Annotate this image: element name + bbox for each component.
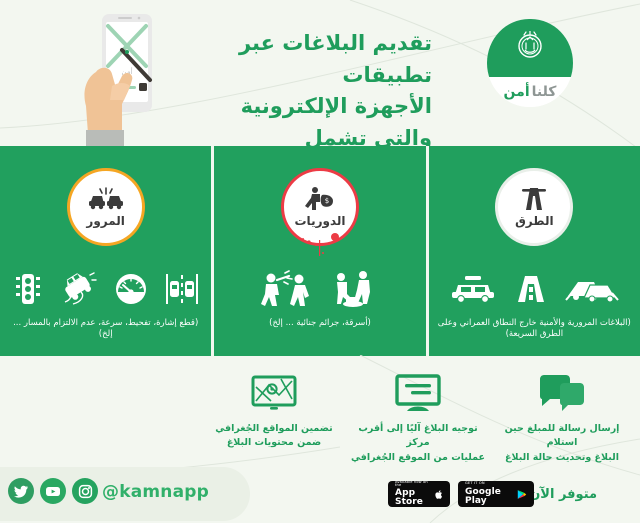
purse-snatching-icon	[259, 270, 313, 308]
panel-roads[interactable]: الطرق	[429, 146, 640, 356]
page-title: تقديم البلاغات عبر تطبيقات الأجهزة الإلك…	[192, 28, 432, 154]
twitter-icon[interactable]	[8, 478, 34, 504]
speedometer-icon	[113, 272, 149, 306]
logo-wordmark: كلناأمن	[487, 77, 573, 107]
instagram-icon[interactable]	[72, 478, 98, 504]
logo-word-green: أمن	[504, 84, 530, 100]
icon-row-traffic	[0, 266, 211, 312]
map-location-icon	[204, 370, 344, 416]
app-store-text: Available now on the App Store	[395, 481, 431, 508]
header: أمن تقديم البلاغات عبر تطبيقات الأجهزة ا…	[0, 0, 640, 146]
icon-row-patrols	[214, 266, 425, 312]
feature-sms-status[interactable]: إرسال رسالة للمبلغ حين استلام البلاغ وتح…	[492, 370, 632, 465]
google-play-text: GET IT ON Google Play	[465, 482, 513, 505]
title-line-2: الأجهزة الإلكترونية والتي تشمل	[192, 91, 432, 154]
footer: @kamnapp متوفر الآن في Available now on …	[0, 465, 640, 523]
panel-caption-traffic: (قطع إشارة، تفحيط، سرعة، عدم الالتزام با…	[6, 318, 205, 340]
police-car-icon	[448, 274, 498, 304]
apple-icon	[435, 488, 443, 501]
app-store-badge[interactable]: Available now on the App Store	[388, 481, 450, 507]
category-panels: الطرق	[0, 146, 640, 356]
feature-caption-line-1: تضمين المواقع الجُغرافي	[204, 422, 344, 436]
feature-caption: إرسال رسالة للمبلغ حين استلام البلاغ وتح…	[492, 422, 632, 465]
social-handle[interactable]: @kamnapp	[102, 482, 209, 502]
saudi-moi-emblem-icon	[516, 31, 544, 61]
google-play-badge[interactable]: GET IT ON Google Play	[458, 481, 534, 507]
app-store-large-text: App Store	[395, 489, 431, 507]
feature-caption-line-1: توجيه البلاغ آليًا إلى أقرب مركز	[348, 422, 488, 451]
app-store-small-text: Available now on the	[395, 481, 431, 488]
badge-label-traffic: المرور	[86, 214, 125, 228]
monitor-screen-icon	[348, 370, 488, 416]
highway-icon	[516, 186, 552, 212]
kollona-amn-logo[interactable]: كلناأمن	[487, 19, 573, 107]
title-line-1: تقديم البلاغات عبر تطبيقات	[192, 28, 432, 91]
drifting-car-icon	[59, 272, 97, 306]
highway-bridge-icon	[514, 274, 548, 304]
youtube-icon[interactable]	[40, 478, 66, 504]
google-play-large-text: Google Play	[465, 488, 513, 506]
icon-row-roads	[429, 266, 640, 312]
feature-auto-routing[interactable]: توجيه البلاغ آليًا إلى أقرب مركز عمليات …	[348, 370, 488, 465]
logo-word-gray: كلنا	[532, 84, 557, 100]
two-cars-collision-icon	[564, 274, 620, 304]
feature-caption-line-1: إرسال رسالة للمبلغ حين استلام	[492, 422, 632, 451]
badge-label-roads: الطرق	[515, 214, 554, 228]
badge-label-patrols: الدوريات	[295, 214, 346, 228]
chat-bubbles-icon	[492, 370, 632, 416]
lane-discipline-icon	[165, 272, 199, 306]
hand-holding-phone-illustration: أمن	[60, 8, 168, 146]
car-crash-icon	[88, 186, 124, 212]
svg-text:$: $	[325, 197, 329, 205]
google-play-icon	[517, 488, 527, 501]
assault-robbery-icon	[329, 270, 381, 308]
thief-with-bag-icon: $	[302, 186, 338, 212]
traffic-light-icon	[13, 272, 43, 306]
feature-caption-line-2: عمليات من الموقع الجُغرافي	[348, 451, 488, 465]
panel-patrols[interactable]: $ الدوريات	[214, 146, 428, 356]
feature-caption-line-2: ضمن محتويات البلاغ	[204, 436, 344, 450]
infographic-root: أمن تقديم البلاغات عبر تطبيقات الأجهزة ا…	[0, 0, 640, 523]
feature-caption: تضمين المواقع الجُغرافي ضمن محتويات البل…	[204, 422, 344, 451]
panel-caption-roads: (البلاغات المرورية والأمنية خارج النطاق …	[435, 318, 634, 340]
panel-traffic[interactable]: المرور	[0, 146, 214, 356]
badge-roads: الطرق	[495, 168, 573, 246]
feature-caption: توجيه البلاغ آليًا إلى أقرب مركز عمليات …	[348, 422, 488, 465]
feature-geo-location[interactable]: تضمين المواقع الجُغرافي ضمن محتويات البل…	[204, 370, 344, 451]
google-play-small-text: GET IT ON	[465, 482, 513, 486]
badge-traffic: المرور	[67, 168, 145, 246]
social-links	[8, 478, 98, 504]
blood-splatter-decoration	[285, 232, 355, 258]
panel-caption-patrols: (أسرقة، جرائم جنائية ... إلخ)	[220, 318, 419, 329]
features-section: إرسال رسالة للمبلغ حين استلام البلاغ وتح…	[0, 360, 640, 465]
feature-caption-line-2: البلاغ وتحديث حالة البلاغ	[492, 451, 632, 465]
